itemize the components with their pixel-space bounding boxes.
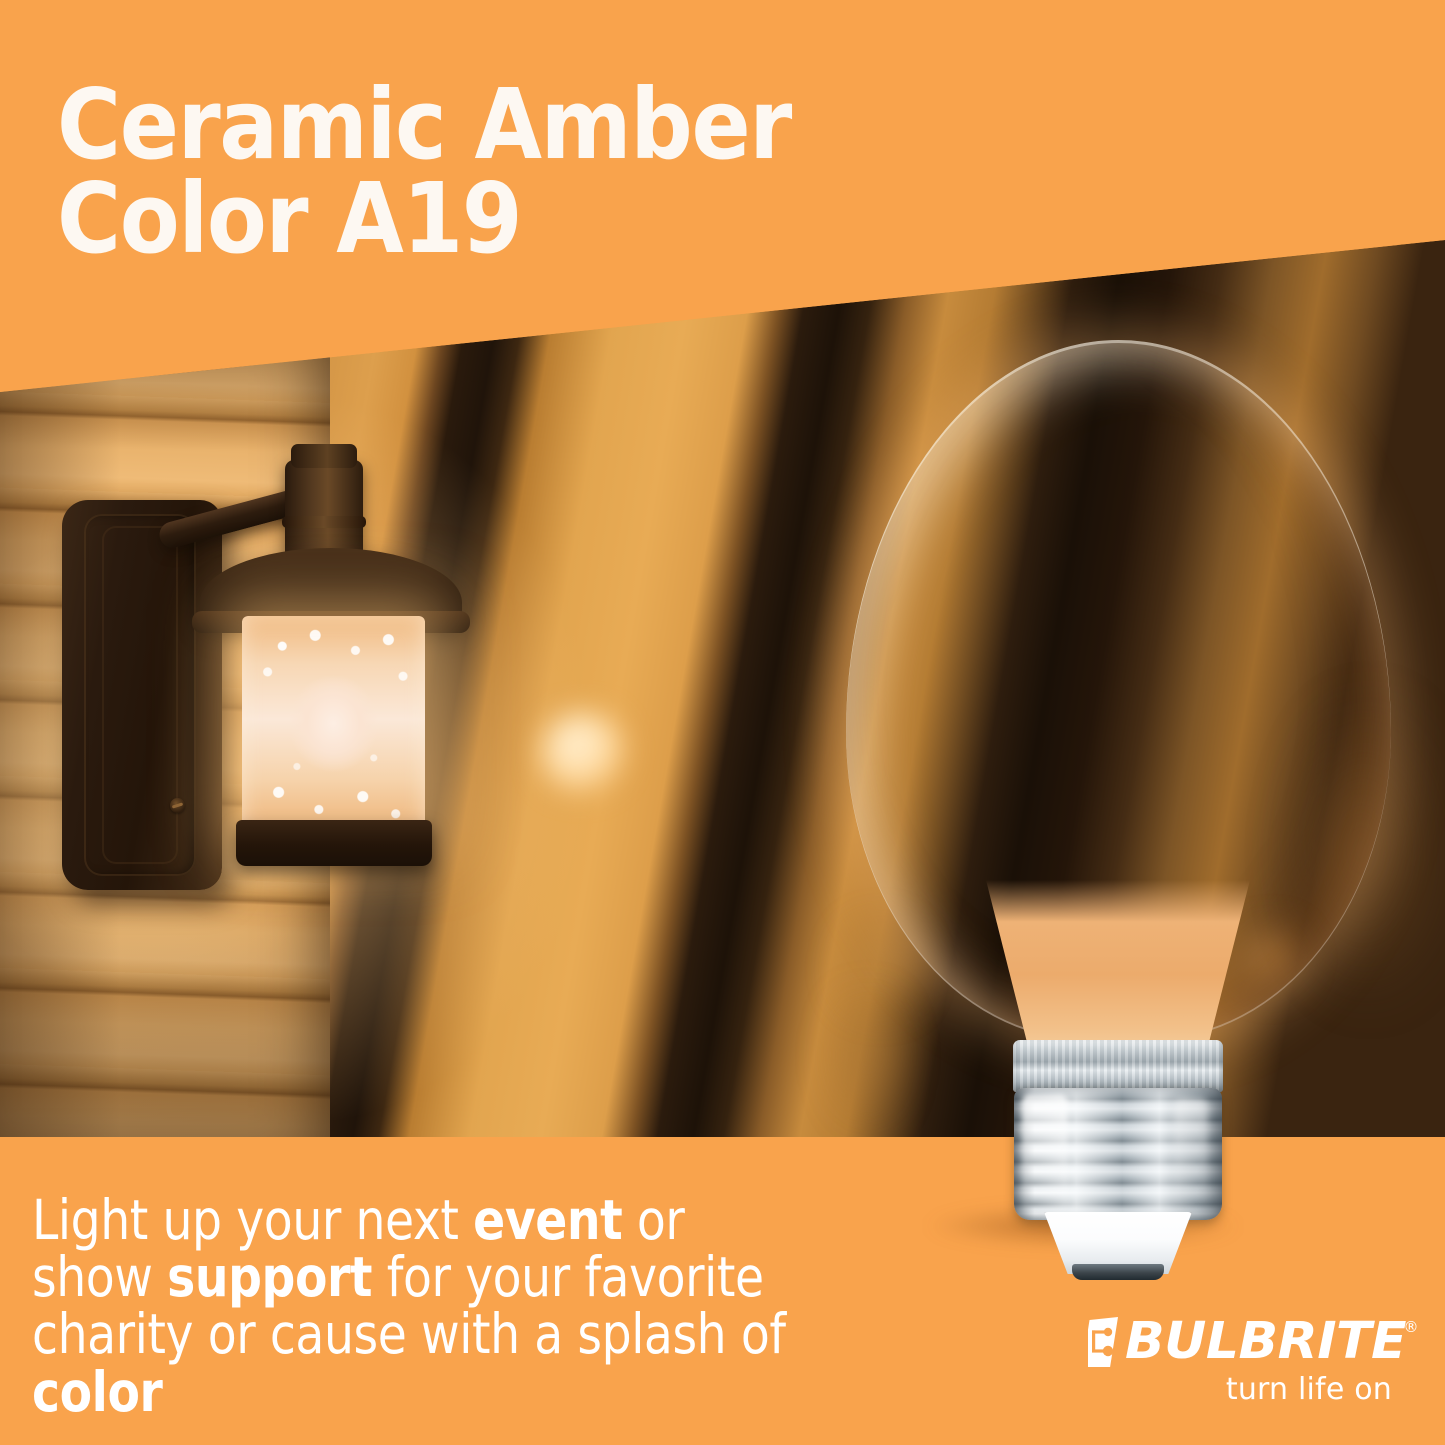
seeded-glass-shade: [242, 616, 425, 831]
bulb-screw-threads: [1014, 1088, 1222, 1220]
product-bulb-image: [838, 340, 1398, 1240]
marketing-tagline: Light up your next event or show support…: [32, 1192, 806, 1421]
tagline-bold-color: color: [32, 1360, 162, 1424]
sconce-hood: [200, 548, 462, 626]
brand-logo: BULBRITE ® turn life on: [1088, 1312, 1394, 1420]
bulb-foot-contact: [1072, 1264, 1164, 1280]
wall-sconce-fixture: [0, 420, 480, 1000]
marketing-image: Ceramic Amber Color A19 Light up your ne…: [0, 0, 1445, 1445]
tagline-bold-event: event: [473, 1188, 622, 1252]
tagline-text-1: Light up your next: [32, 1188, 473, 1252]
sconce-backplate: [62, 500, 222, 890]
logo-brand-name: BULBRITE: [1125, 1312, 1406, 1371]
sconce-screw: [170, 798, 185, 813]
shade-bottom-ring: [236, 820, 432, 866]
logo-wordmark: BULBRITE ®: [1088, 1312, 1419, 1371]
logo-slogan: turn life on: [1226, 1372, 1392, 1407]
page-title: Ceramic Amber Color A19: [57, 78, 957, 266]
sconce-post: [285, 460, 363, 560]
tagline-bold-support: support: [167, 1245, 372, 1309]
bulbrite-filament-b-icon: [1088, 1317, 1122, 1367]
bulb-base-collar: [1013, 1040, 1223, 1092]
